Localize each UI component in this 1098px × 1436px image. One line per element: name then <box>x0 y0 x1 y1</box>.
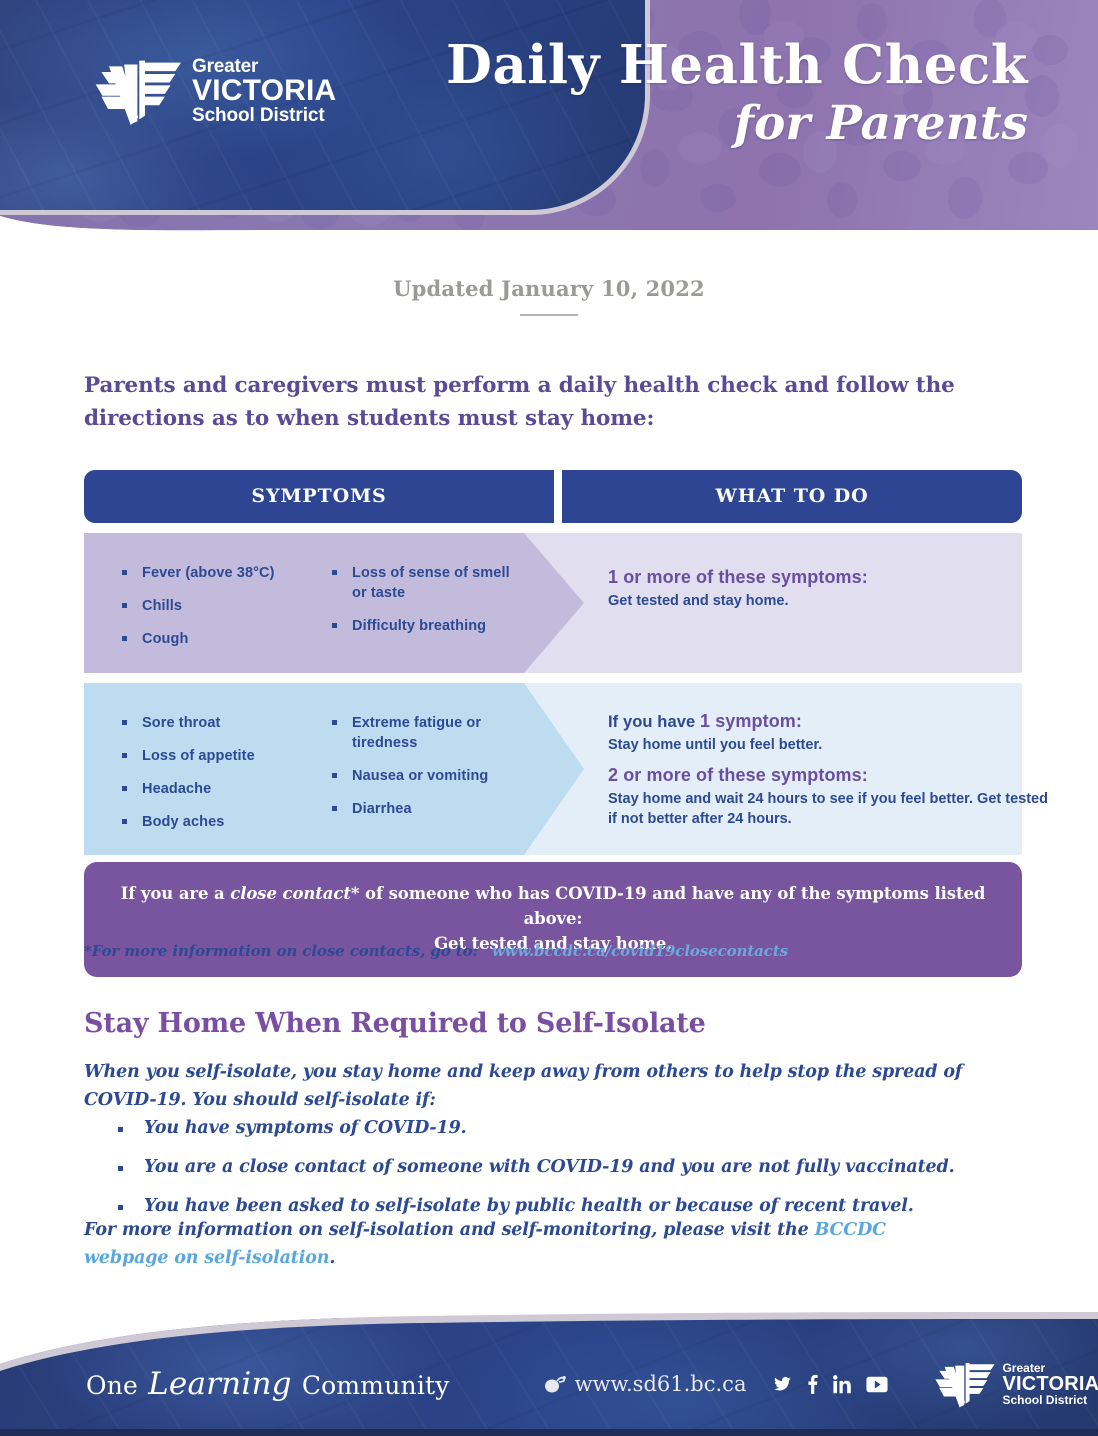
mouse-icon <box>544 1375 566 1393</box>
symptoms-column-1: Fever (above 38°C) Chills Cough <box>120 563 310 673</box>
what-to-do-lead-emphasis: 1 symptom: <box>700 711 802 731</box>
symptoms-cell: Fever (above 38°C) Chills Cough Loss of … <box>84 533 584 673</box>
what-to-do-sub-1: Stay home until you feel better. <box>608 735 1048 756</box>
header-bottom-curve <box>0 172 1098 232</box>
district-logo: Greater VICTORIA School District <box>88 55 336 127</box>
intro-paragraph: Parents and caregivers must perform a da… <box>84 370 1029 435</box>
what-to-do-lead-2: 2 or more of these symptoms: <box>608 765 1048 786</box>
list-item: Diarrhea <box>330 799 520 819</box>
tagline-pre: One <box>86 1371 146 1400</box>
date-divider <box>520 314 578 316</box>
facebook-icon[interactable] <box>807 1374 819 1394</box>
column-header-symptoms: SYMPTOMS <box>84 470 554 523</box>
document-page: Greater VICTORIA School District Daily H… <box>0 0 1098 1436</box>
list-item: Loss of sense of smell or taste <box>330 563 520 603</box>
footer-content: One Learning Community www.sd61.bc.ca <box>0 1354 1098 1414</box>
banner-text-part1: If you are a <box>121 884 231 903</box>
logo-line-school-district: School District <box>192 106 336 125</box>
footer-bottom-rule <box>0 1429 1098 1436</box>
list-item: Headache <box>120 779 310 799</box>
self-isolate-outro: For more information on self-isolation a… <box>84 1216 964 1273</box>
column-header-what-to-do: WHAT TO DO <box>562 470 1022 523</box>
list-item: Cough <box>120 629 310 649</box>
page-title-line1: Daily Health Check <box>446 38 1028 94</box>
list-item: You have symptoms of COVID-19. <box>110 1118 1010 1138</box>
footer-logo-text: Greater VICTORIA School District <box>1002 1362 1098 1406</box>
page-title-line2: for Parents <box>446 96 1028 152</box>
updated-date: Updated January 10, 2022 <box>0 276 1098 301</box>
logo-line-victoria: VICTORIA <box>192 76 336 106</box>
footer-url-group[interactable]: www.sd61.bc.ca <box>544 1372 747 1396</box>
what-to-do-lead-1: If you have 1 symptom: <box>608 711 1048 732</box>
list-item: Nausea or vomiting <box>330 766 520 786</box>
district-logo-icon <box>88 55 183 127</box>
close-contact-banner-line1: If you are a close contact* of someone w… <box>110 881 996 931</box>
youtube-icon[interactable] <box>866 1376 888 1393</box>
list-item: Chills <box>120 596 310 616</box>
what-to-do-sub-2: Stay home and wait 24 hours to see if yo… <box>608 789 1048 830</box>
what-to-do-lead: 1 or more of these symptoms: <box>608 567 1048 588</box>
tagline-post: Community <box>294 1371 450 1400</box>
symptoms-column-2: Loss of sense of smell or taste Difficul… <box>330 563 520 673</box>
list-item: Loss of appetite <box>120 746 310 766</box>
what-to-do-sub: Get tested and stay home. <box>608 591 1048 612</box>
tagline-script: Learning <box>146 1366 294 1402</box>
symptoms-column-1: Sore throat Loss of appetite Headache Bo… <box>120 713 310 855</box>
updated-date-block: Updated January 10, 2022 <box>0 276 1098 316</box>
table-row: Sore throat Loss of appetite Headache Bo… <box>84 683 1022 855</box>
footer-district-logo: Greater VICTORIA School District <box>930 1359 1098 1409</box>
district-logo-icon <box>930 1359 996 1409</box>
list-item: You have been asked to self-isolate by p… <box>110 1196 1010 1216</box>
list-item: You are a close contact of someone with … <box>110 1157 1010 1177</box>
list-item: Fever (above 38°C) <box>120 563 310 583</box>
what-to-do-cell: 1 or more of these symptoms: Get tested … <box>608 533 1048 673</box>
symptoms-column-2: Extreme fatigue or tiredness Nausea or v… <box>330 713 520 855</box>
banner-text-part2: * of someone who has COVID-19 and have a… <box>351 884 985 928</box>
table-row: Fever (above 38°C) Chills Cough Loss of … <box>84 533 1022 673</box>
table-header-row: SYMPTOMS WHAT TO DO <box>84 470 1022 523</box>
section-title-self-isolate: Stay Home When Required to Self-Isolate <box>84 1008 706 1039</box>
list-item: Body aches <box>120 812 310 832</box>
banner-emphasis: close contact <box>230 884 351 903</box>
bccdc-close-contacts-link[interactable]: www.bccdc.ca/covid19closecontacts <box>492 942 788 960</box>
close-contact-footnote: *For more information on close contacts,… <box>84 942 788 960</box>
list-item: Sore throat <box>120 713 310 733</box>
list-item: Extreme fatigue or tiredness <box>330 713 520 753</box>
self-isolate-body: When you self-isolate, you stay home and… <box>84 1058 1014 1115</box>
page-title: Daily Health Check for Parents <box>446 38 1028 152</box>
page-footer: One Learning Community www.sd61.bc.ca <box>0 1286 1098 1436</box>
footer-logo-line-school-district: School District <box>1002 1394 1098 1406</box>
what-to-do-lead-prefix: If you have <box>608 713 700 731</box>
footer-social-links <box>772 1374 888 1394</box>
symptoms-table: SYMPTOMS WHAT TO DO Fever (above 38°C) C… <box>84 470 1022 855</box>
self-isolate-outro-pre: For more information on self-isolation a… <box>84 1220 815 1240</box>
footer-website-url[interactable]: www.sd61.bc.ca <box>575 1372 747 1396</box>
list-item: Difficulty breathing <box>330 616 520 636</box>
what-to-do-cell: If you have 1 symptom: Stay home until y… <box>608 683 1048 855</box>
linkedin-icon[interactable] <box>833 1375 852 1394</box>
twitter-icon[interactable] <box>772 1375 793 1393</box>
footer-tagline: One Learning Community <box>86 1366 450 1402</box>
page-header: Greater VICTORIA School District Daily H… <box>0 0 1098 232</box>
header-purple-background: Greater VICTORIA School District Daily H… <box>0 0 1098 232</box>
symptoms-cell: Sore throat Loss of appetite Headache Bo… <box>84 683 584 855</box>
self-isolate-outro-post: . <box>329 1248 335 1268</box>
footnote-text: *For more information on close contacts,… <box>84 942 478 960</box>
district-logo-text: Greater VICTORIA School District <box>192 57 336 125</box>
footer-logo-line-victoria: VICTORIA <box>1002 1374 1098 1394</box>
